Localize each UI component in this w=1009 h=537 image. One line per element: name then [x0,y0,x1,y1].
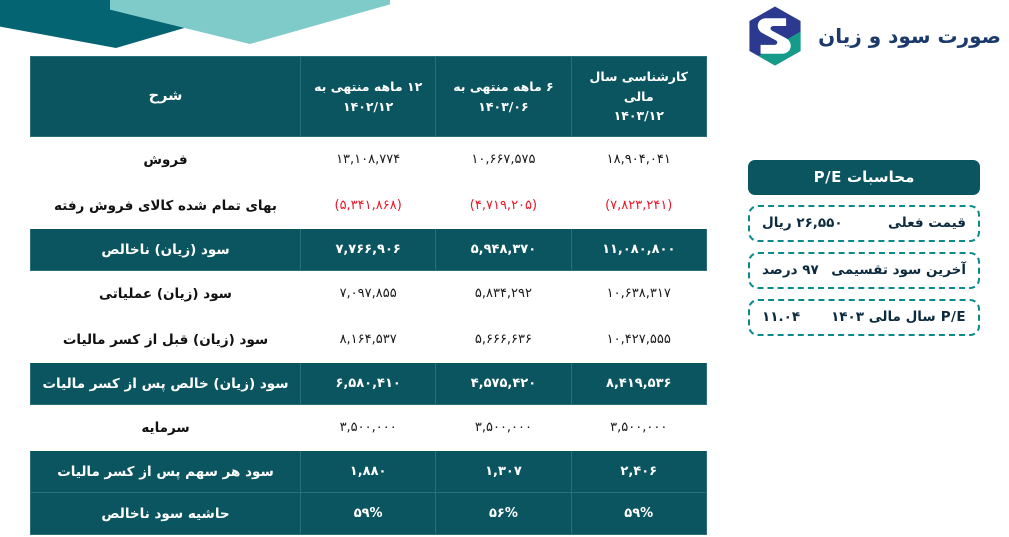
pe-value-last-dividend: ۹۷ درصد [762,262,819,278]
table-row: ۲,۴۰۶ ۱,۳۰۷ ۱,۸۸۰ سود هر سهم پس از کسر م… [31,451,707,493]
cell-value: ۵۹% [571,493,706,535]
cell-value: ۱۰,۶۶۷,۵۷۵ [436,137,571,183]
column-header-line2: ۱۴۰۲/۱۲ [343,99,393,114]
cell-value: (۷,۸۲۳,۲۴۱) [571,183,706,229]
table-body: ۱۸,۹۰۴,۰۴۱ ۱۰,۶۶۷,۵۷۵ ۱۳,۱۰۸,۷۷۴ فروش (۷… [31,137,707,535]
cell-value: ۲,۴۰۶ [571,451,706,493]
cell-description: سود (زیان) ناخالص [31,229,301,271]
cell-value: ۵,۸۳۴,۲۹۲ [436,271,571,317]
cell-value: ۸,۱۶۴,۵۳۷ [301,317,436,363]
cell-value: ۸,۴۱۹,۵۳۶ [571,363,706,405]
table-header-row: کارشناسی سال مالی ۱۴۰۳/۱۲ ۶ ماهه منتهی ب… [31,57,707,137]
cell-value: ۶,۵۸۰,۴۱۰ [301,363,436,405]
pe-value-current-price: ۲۶,۵۵۰ ریال [762,215,843,231]
cell-value: ۴,۵۷۵,۴۲۰ [436,363,571,405]
company-logo-icon [746,6,804,66]
table-row: ۸,۴۱۹,۵۳۶ ۴,۵۷۵,۴۲۰ ۶,۵۸۰,۴۱۰ سود (زیان)… [31,363,707,405]
cell-value: ۷,۰۹۷,۸۵۵ [301,271,436,317]
cell-value: ۵,۹۴۸,۳۷۰ [436,229,571,271]
pe-calculations-panel: محاسبات P/E قیمت فعلی ۲۶,۵۵۰ ریال آخرین … [748,160,980,336]
cell-value: ۱,۸۸۰ [301,451,436,493]
cell-value: ۵۹% [301,493,436,535]
column-header-description: شرح [31,57,301,137]
cell-value: ۱۰,۶۳۸,۳۱۷ [571,271,706,317]
cell-description: فروش [31,137,301,183]
column-header-line2: ۱۴۰۳/۱۲ [614,108,664,123]
page-title: صورت سود و زیان [818,24,1001,48]
chevron-light-shape [110,0,390,44]
cell-value: ۵,۶۶۶,۶۳۶ [436,317,571,363]
cell-value: (۴,۷۱۹,۲۰۵) [436,183,571,229]
table-row: ۳,۵۰۰,۰۰۰ ۳,۵۰۰,۰۰۰ ۳,۵۰۰,۰۰۰ سرمایه [31,405,707,451]
table-row: ۱۸,۹۰۴,۰۴۱ ۱۰,۶۶۷,۵۷۵ ۱۳,۱۰۸,۷۷۴ فروش [31,137,707,183]
column-header-line1: کارشناسی سال مالی [590,69,688,103]
table-row: ۱۰,۶۳۸,۳۱۷ ۵,۸۳۴,۲۹۲ ۷,۰۹۷,۸۵۵ سود (زیان… [31,271,707,317]
cell-description: بهای تمام شده کالای فروش رفته [31,183,301,229]
pe-label-current-price: قیمت فعلی [888,215,966,231]
cell-value: ۱,۳۰۷ [436,451,571,493]
cell-description: سود (زیان) خالص پس از کسر مالیات [31,363,301,405]
column-header-line2: ۱۴۰۳/۰۶ [478,99,528,114]
decorative-banner [0,0,420,50]
cell-value: ۳,۵۰۰,۰۰۰ [571,405,706,451]
cell-description: سود (زیان) عملیاتی [31,271,301,317]
pe-row-current-price: قیمت فعلی ۲۶,۵۵۰ ریال [748,205,980,242]
column-header-expert-fy1403: کارشناسی سال مالی ۱۴۰۳/۱۲ [571,57,706,137]
table-row: ۵۹% ۵۶% ۵۹% حاشیه سود ناخالص [31,493,707,535]
cell-description: سرمایه [31,405,301,451]
cell-value: ۷,۷۶۶,۹۰۶ [301,229,436,271]
pe-label-last-dividend: آخرین سود تقسیمی [831,262,966,278]
cell-value: ۱۳,۱۰۸,۷۷۴ [301,137,436,183]
cell-description: حاشیه سود ناخالص [31,493,301,535]
pe-value-pe-ratio: ۱۱.۰۴ [762,309,800,325]
cell-value: ۳,۵۰۰,۰۰۰ [301,405,436,451]
pe-panel-title: محاسبات P/E [748,160,980,195]
table-row: ۱۱,۰۸۰,۸۰۰ ۵,۹۴۸,۳۷۰ ۷,۷۶۶,۹۰۶ سود (زیان… [31,229,707,271]
chevron-dark-shape [0,0,260,48]
table-row: (۷,۸۲۳,۲۴۱) (۴,۷۱۹,۲۰۵) (۵,۳۴۱,۸۶۸) بهای… [31,183,707,229]
pe-row-pe-ratio: P/E سال مالی ۱۴۰۳ ۱۱.۰۴ [748,299,980,336]
cell-value: ۵۶% [436,493,571,535]
pe-label-pe-ratio: P/E سال مالی ۱۴۰۳ [831,309,966,325]
cell-description: سود (زیان) قبل از کسر مالیات [31,317,301,363]
cell-value: ۱۱,۰۸۰,۸۰۰ [571,229,706,271]
column-header-line1: ۱۲ ماهه منتهی به [314,79,422,94]
cell-value: (۵,۳۴۱,۸۶۸) [301,183,436,229]
column-header-6m-1403-06: ۶ ماهه منتهی به ۱۴۰۳/۰۶ [436,57,571,137]
cell-value: ۱۸,۹۰۴,۰۴۱ [571,137,706,183]
cell-description: سود هر سهم پس از کسر مالیات [31,451,301,493]
cell-value: ۳,۵۰۰,۰۰۰ [436,405,571,451]
column-header-12m-1402-12: ۱۲ ماهه منتهی به ۱۴۰۲/۱۲ [301,57,436,137]
page-header: صورت سود و زیان [746,6,1001,66]
cell-value: ۱۰,۴۲۷,۵۵۵ [571,317,706,363]
table-row: ۱۰,۴۲۷,۵۵۵ ۵,۶۶۶,۶۳۶ ۸,۱۶۴,۵۳۷ سود (زیان… [31,317,707,363]
income-statement-table: کارشناسی سال مالی ۱۴۰۳/۱۲ ۶ ماهه منتهی ب… [30,56,707,535]
column-header-line1: ۶ ماهه منتهی به [453,79,554,94]
pe-row-last-dividend: آخرین سود تقسیمی ۹۷ درصد [748,252,980,289]
